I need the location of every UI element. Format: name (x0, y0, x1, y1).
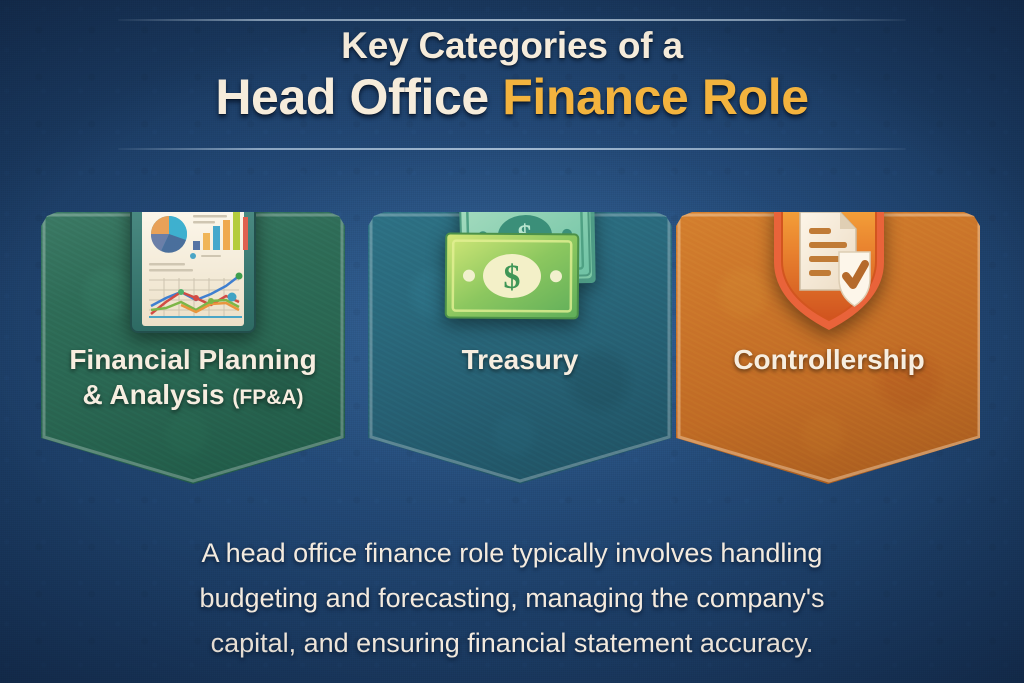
panel-label-fpa-line1: Financial Planning (69, 344, 316, 375)
summary-line-2: budgeting and forecasting, managing the … (150, 576, 874, 621)
panel-label-fpa-line2: & Analysis (82, 379, 232, 410)
panel-label-fpa: Financial Planning & Analysis (FP&A) (41, 342, 345, 415)
panel-label-controllership: Controllership (676, 342, 982, 377)
shield-document-check-icon (676, 184, 982, 334)
divider-top (118, 19, 906, 21)
summary-line-3: capital, and ensuring financial statemen… (150, 621, 874, 666)
title-line-1: Key Categories of a (0, 24, 1024, 68)
clipboard-chart-icon (41, 184, 345, 336)
title-line-2: Head Office Finance Role (0, 68, 1024, 126)
divider-bottom (118, 148, 906, 150)
title-line-2-accent: Finance Role (502, 69, 808, 125)
summary-line-1: A head office finance role typically inv… (150, 531, 874, 576)
panel-label-treasury: Treasury (368, 342, 672, 377)
banknotes-icon: $ $ (368, 184, 672, 324)
infographic-canvas: Key Categories of a Head Office Finance … (0, 0, 1024, 683)
summary-paragraph: A head office finance role typically inv… (0, 531, 1024, 666)
svg-text:$: $ (503, 259, 520, 296)
category-panel-controllership[interactable]: Controllership (676, 212, 982, 484)
title-line-2-plain: Head Office (215, 69, 502, 125)
category-panel-fpa[interactable]: Financial Planning & Analysis (FP&A) (41, 212, 345, 484)
page-title: Key Categories of a Head Office Finance … (0, 24, 1024, 126)
category-panel-treasury[interactable]: $ $ Treasury (368, 212, 672, 484)
panel-label-fpa-abbrev: (FP&A) (232, 386, 303, 409)
category-panels: Financial Planning & Analysis (FP&A) (0, 212, 1024, 487)
